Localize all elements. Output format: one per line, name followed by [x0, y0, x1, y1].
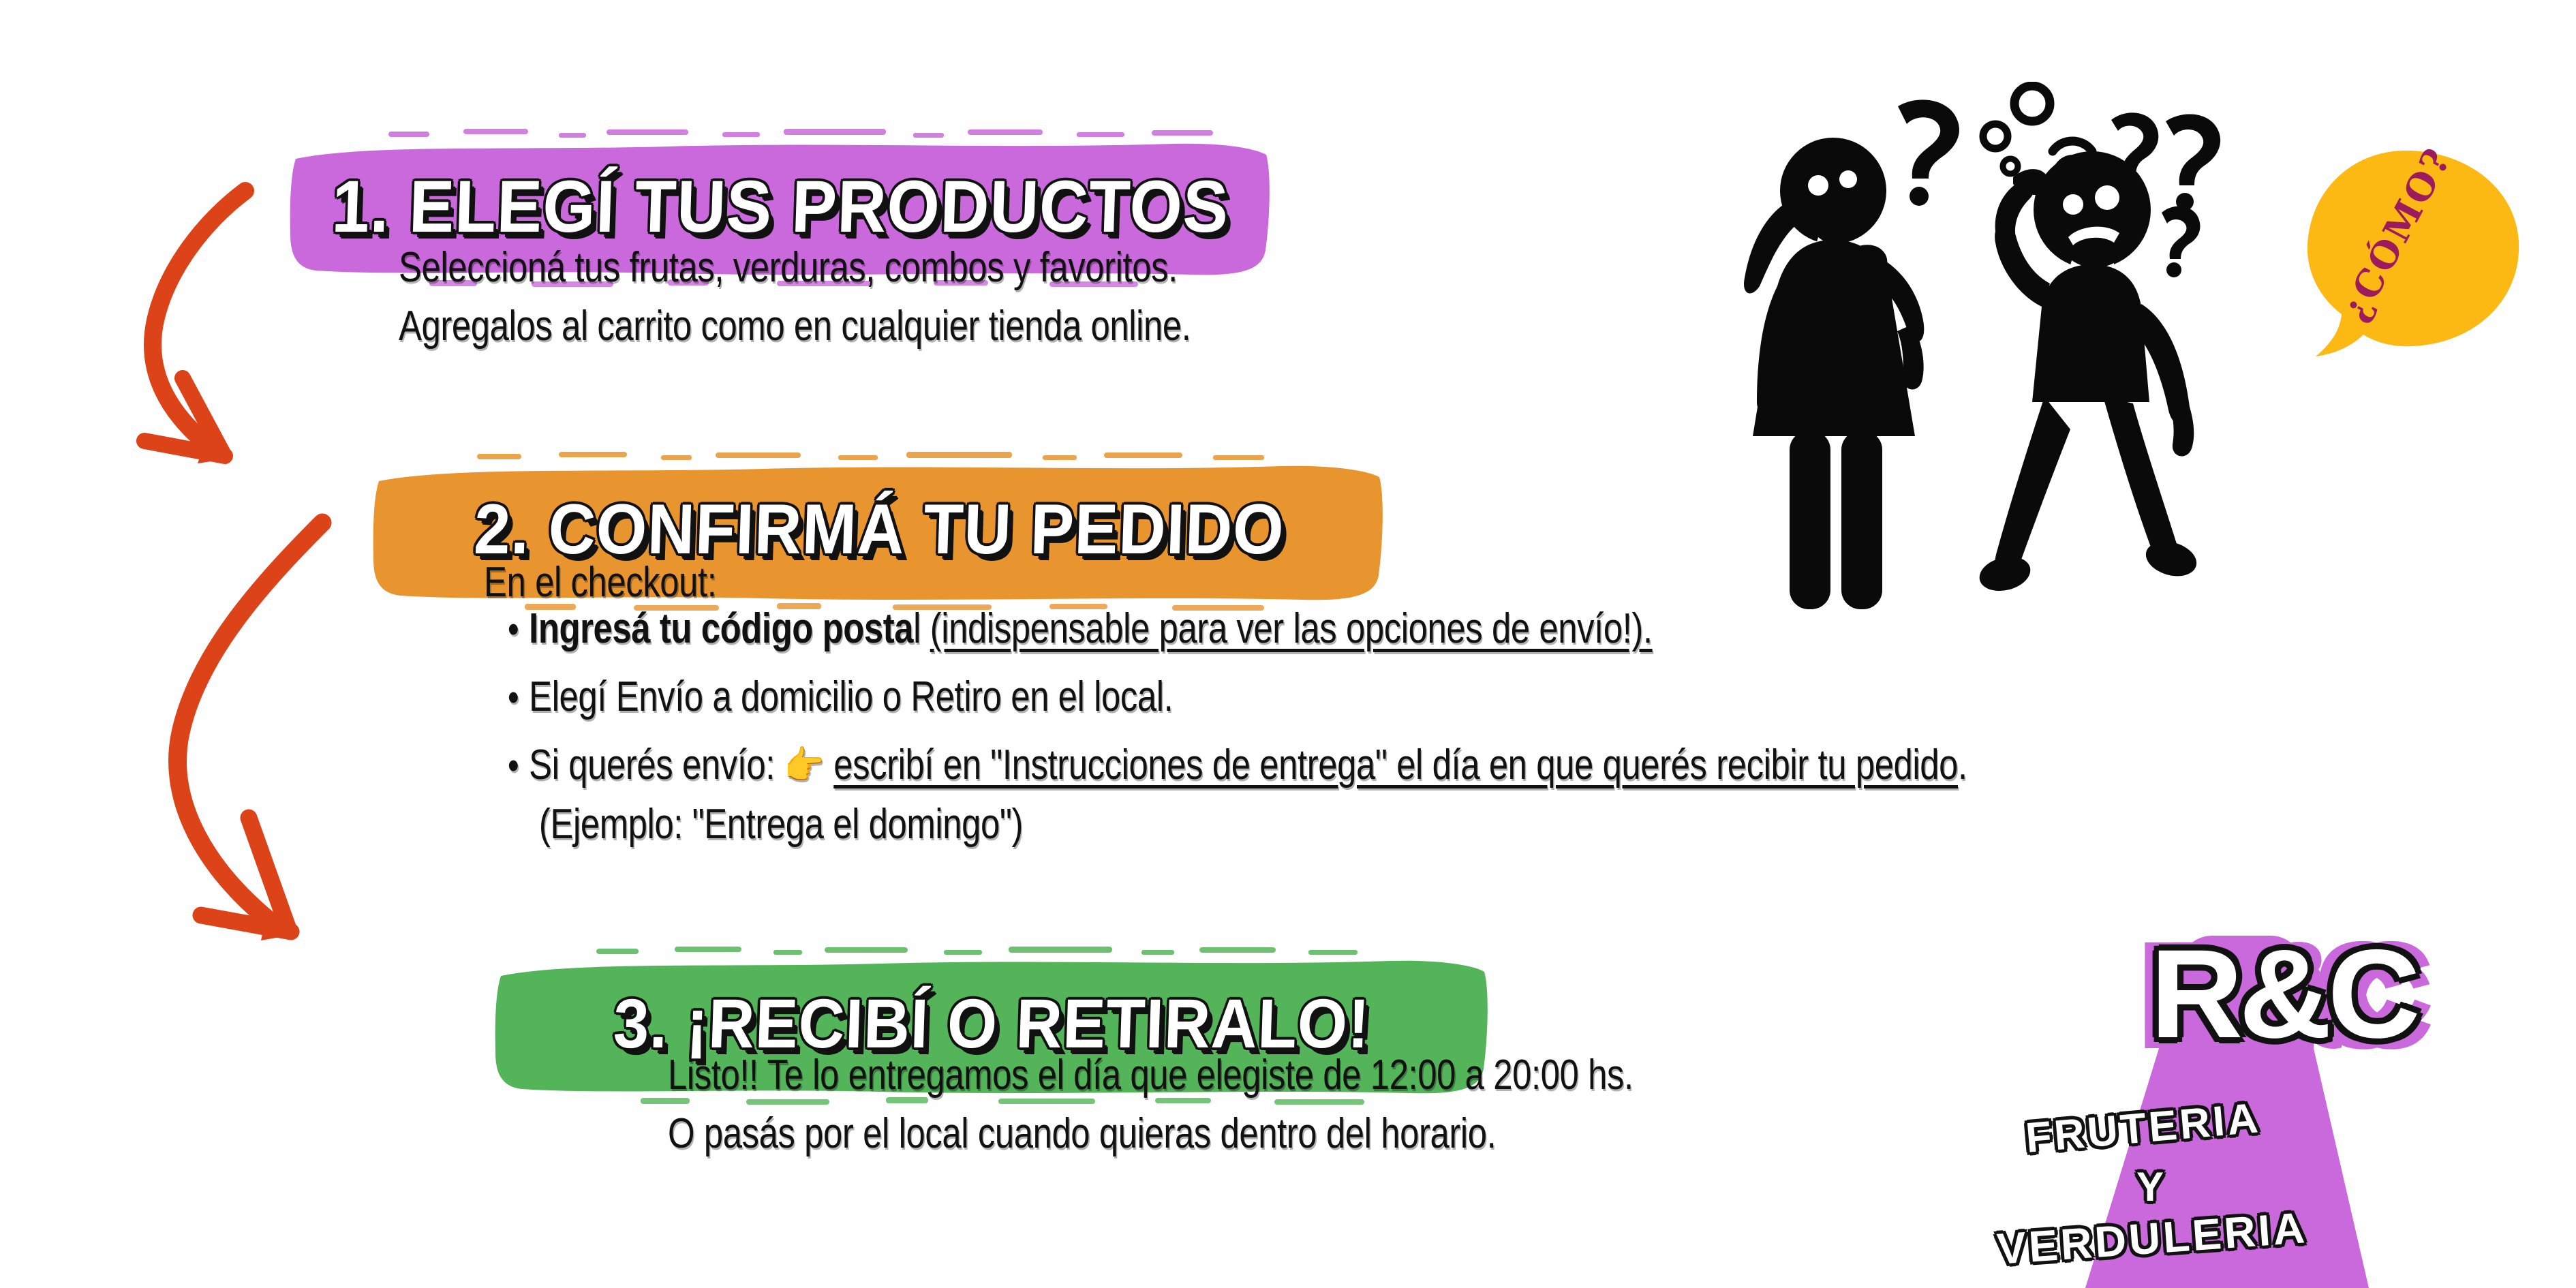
list-item: •Si querés envío: 👉 escribí en "Instrucc…	[508, 736, 1967, 854]
bullet-1-underlined: (indispensable para ver las opciones de …	[930, 605, 1653, 652]
confused-man-figure	[1976, 86, 2220, 596]
pointing-right-hand-icon: 👉	[784, 743, 825, 788]
list-item: •Elegí Envío a domicilio o Retiro en el …	[508, 668, 1967, 726]
step-1-line-2: Agregalos al carrito como en cualquier t…	[399, 297, 1191, 356]
bullet-3-example: (Ejemplo: "Entrega el domingo")	[539, 795, 1967, 854]
step-1-banner-label: 1. ELEGÍ TUS PRODUCTOS	[331, 164, 1230, 249]
confused-people-illustration	[1724, 82, 2290, 620]
bullet-3-underlined: escribí en "Instrucciones de entrega" el…	[833, 741, 1958, 788]
bullet-1-bold: Ingresá tu código posta	[529, 605, 913, 652]
step-3-banner-label: 3. ¡RECIBÍ O RETIRALO!	[612, 984, 1371, 1064]
thought-bubbles-icon	[1983, 86, 2050, 174]
question-mark-icon	[2166, 114, 2220, 211]
logo-brand-text: R&C	[1957, 932, 2576, 1058]
question-mark-icon	[2162, 206, 2200, 277]
bullet-dot-icon: •	[508, 678, 529, 718]
brand-logo: R&C FRUTERIA Y VERDULERIA	[1963, 923, 2576, 1288]
step-2-bullet-list: •Ingresá tu código postal (indispensable…	[508, 600, 1967, 863]
bullet-2-plain: Elegí Envío a domicilio o Retiro en el l…	[529, 673, 1173, 720]
bullet-3-plain: Si querés envío:	[529, 741, 784, 788]
bullet-1-plain: l	[913, 605, 930, 652]
thinking-woman-figure	[1744, 99, 1959, 609]
bullet-dot-icon: •	[508, 746, 529, 786]
infographic-canvas: 1. ELEGÍ TUS PRODUCTOS Seleccioná tus fr…	[0, 0, 2576, 1288]
step-2-banner-label: 2. CONFIRMÁ TU PEDIDO	[473, 489, 1286, 570]
step-1-description: Seleccioná tus frutas, verduras, combos …	[399, 239, 1191, 356]
bullet-dot-icon: •	[508, 610, 529, 649]
step-3-line-2: O pasás por el local cuando quieras dent…	[668, 1105, 1634, 1163]
bullet-3-tail: .	[1958, 741, 1967, 788]
speech-bubble: ¿CÓMO?	[2263, 147, 2535, 365]
bullet-3-space	[825, 741, 834, 788]
logo-line-y: Y	[2136, 1163, 2164, 1210]
question-mark-icon	[1898, 99, 1959, 206]
